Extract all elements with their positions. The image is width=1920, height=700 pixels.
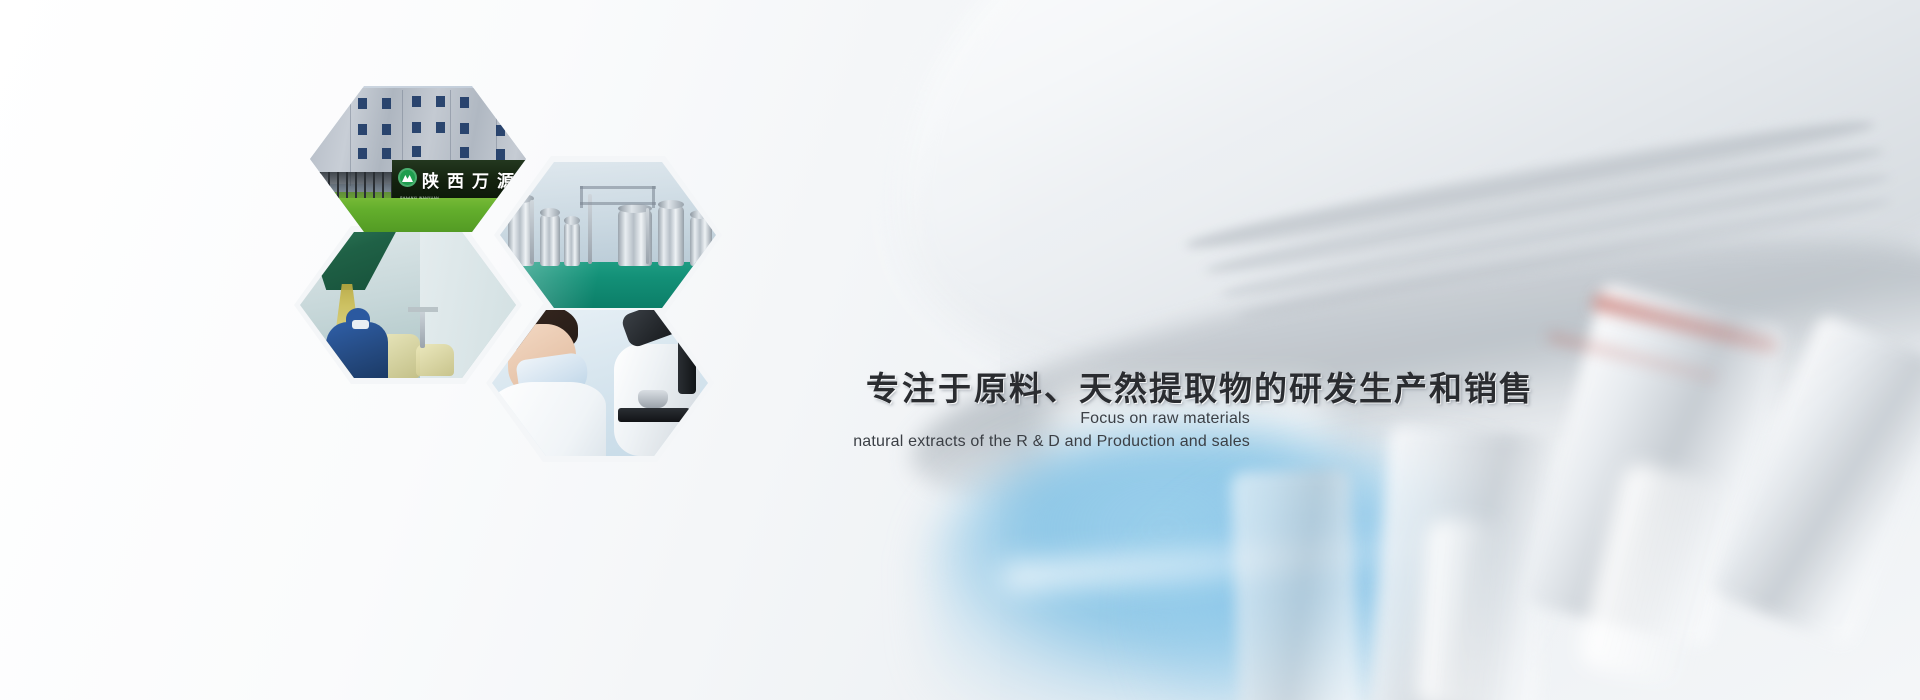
microscope-nosepiece (638, 390, 668, 408)
scale-plate (408, 307, 438, 312)
microscope-stage (618, 408, 690, 422)
plant-railing (580, 186, 583, 208)
extraction-tank (690, 216, 712, 266)
extraction-tank (658, 206, 684, 266)
background-objective-lens (1231, 468, 1360, 700)
extraction-tank (540, 214, 560, 266)
plant-railing (580, 202, 656, 205)
background-lens-highlight (1415, 517, 1508, 700)
company-logo-icon: SHAANXI WANYUAN (398, 168, 417, 187)
plant-pipe (646, 208, 649, 264)
plant-railing (652, 186, 655, 208)
hero-banner: SHAANXI WANYUAN 陕西万源 (0, 0, 1920, 700)
worker-body (326, 322, 388, 378)
logo-subtext: SHAANXI WANYUAN (400, 196, 439, 200)
scale-stand (420, 308, 425, 348)
headline-main: 原料、天然提取物的研发生产和销售 (974, 369, 1534, 408)
extraction-tank (564, 222, 580, 266)
plant-railing (580, 186, 656, 189)
factory-fence (310, 172, 396, 198)
extract-bag (416, 344, 454, 376)
photo-hex-worker[interactable] (300, 232, 516, 378)
worker-mask (352, 320, 369, 329)
photo-hex-factory[interactable]: SHAANXI WANYUAN 陕西万源 (310, 86, 526, 232)
scientist-lab-coat (492, 382, 606, 456)
photo-hex-extraction-plant[interactable] (500, 162, 716, 308)
photo-hex-microscope[interactable] (492, 310, 708, 456)
headline-lead: 专注于 (866, 369, 974, 408)
page-title: 专注于原料、天然提取物的研发生产和销售 (866, 362, 1534, 410)
plant-pipe (530, 200, 534, 264)
plant-floor (500, 262, 716, 308)
microscope-arm (678, 332, 696, 394)
microscope-focus-knob (684, 408, 708, 434)
